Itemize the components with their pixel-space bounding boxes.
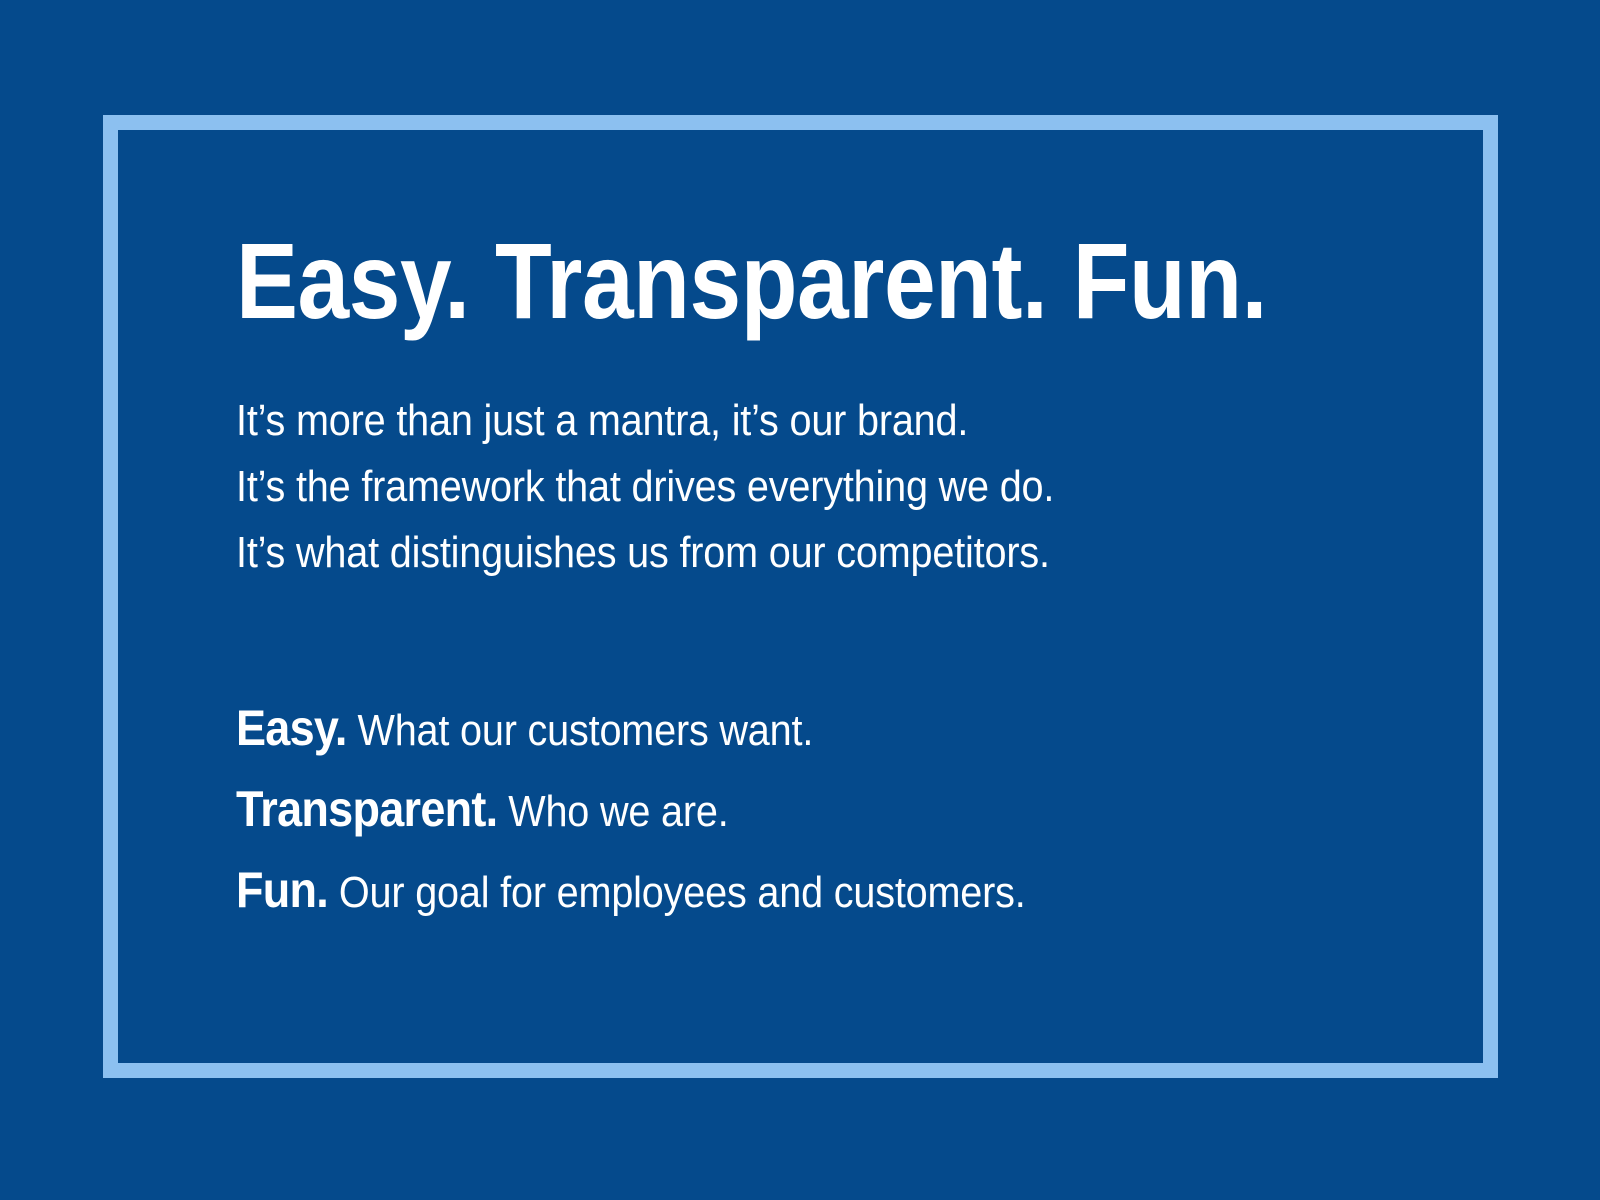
brand-mantra-slide: Easy. Transparent. Fun. It’s more than j… [0,0,1600,1200]
definition-description-easy: What our customers want. [347,706,813,755]
intro-paragraph: It’s more than just a mantra, it’s our b… [236,388,1298,586]
definition-item-fun: Fun. Our goal for employees and customer… [236,850,1298,931]
slide-content: Easy. Transparent. Fun. It’s more than j… [236,226,1416,931]
intro-line-3: It’s what distinguishes us from our comp… [236,520,1298,586]
definition-term-transparent: Transparent. [236,781,497,837]
definition-list: Easy. What our customers want. Transpare… [236,688,1298,931]
definition-term-fun: Fun. [236,862,328,918]
intro-line-2: It’s the framework that drives everythin… [236,454,1298,520]
definition-term-easy: Easy. [236,700,347,756]
intro-line-1: It’s more than just a mantra, it’s our b… [236,388,1298,454]
definition-description-transparent: Who we are. [497,787,728,836]
page-title: Easy. Transparent. Fun. [236,226,1251,336]
definition-item-transparent: Transparent. Who we are. [236,769,1298,850]
definition-description-fun: Our goal for employees and customers. [328,868,1025,917]
definition-item-easy: Easy. What our customers want. [236,688,1298,769]
